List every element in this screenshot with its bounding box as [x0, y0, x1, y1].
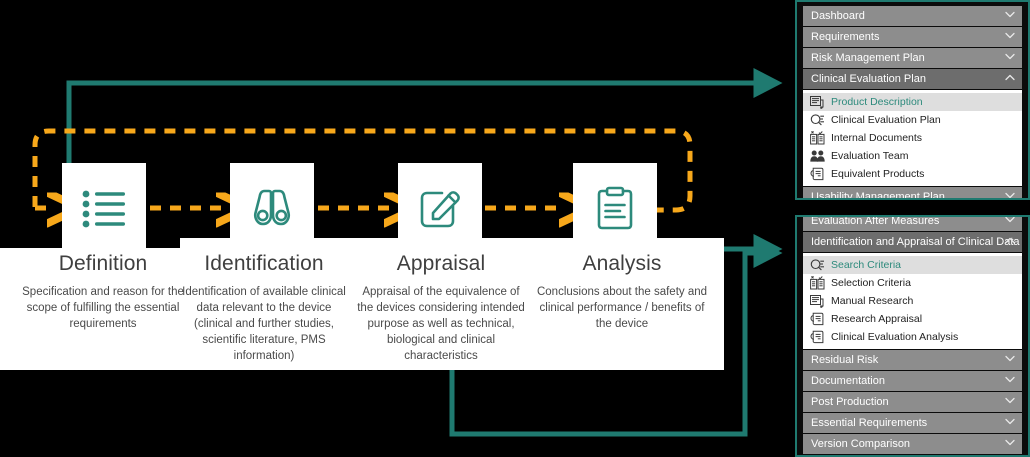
step-appraisal: Appraisal Appraisal of the equivalence o…: [353, 252, 529, 364]
tree-item-label: Equivalent Products: [831, 169, 924, 180]
tree-group-body: Search CriteriaSelection CriteriaManual …: [803, 253, 1022, 349]
tree-group-header[interactable]: Version Comparison: [803, 434, 1022, 454]
two-documents-icon: [809, 276, 825, 291]
tree-group-header[interactable]: Essential Requirements: [803, 413, 1022, 433]
step-description: Specification and reason for the scope o…: [8, 285, 198, 333]
tree-item[interactable]: Search Criteria: [803, 256, 1022, 274]
people-icon: [809, 149, 825, 164]
tree-group-header[interactable]: Evaluation After Measures: [803, 215, 1022, 231]
tree-item[interactable]: Selection Criteria: [803, 274, 1022, 292]
tree-item[interactable]: Internal Documents: [803, 129, 1022, 147]
chevron-down-icon[interactable]: [1005, 355, 1014, 364]
tree-item-label: Manual Research: [831, 296, 913, 307]
copy-document-icon: [809, 167, 825, 182]
step-description: Conclusions about the safety and clinica…: [530, 285, 714, 333]
tree-item-label: Internal Documents: [831, 133, 922, 144]
tree-item-label: Evaluation Team: [831, 151, 908, 162]
tree-group-header[interactable]: Identification and Appraisal of Clinical…: [803, 232, 1022, 252]
bullet-list-icon: [81, 188, 127, 228]
tree-item[interactable]: Clinical Evaluation Plan: [803, 111, 1022, 129]
search-doc-icon: [809, 113, 825, 128]
step-title: Analysis: [530, 252, 714, 275]
tree-group-label: Clinical Evaluation Plan: [811, 73, 926, 85]
tree-group-header[interactable]: Usability Management Plan: [803, 187, 1022, 200]
document-text-icon: [809, 294, 825, 309]
tree-group-label: Evaluation After Measures: [811, 215, 939, 227]
step-tile-definition: [62, 163, 146, 253]
chevron-down-icon[interactable]: [1005, 192, 1014, 200]
tree-item-label: Clinical Evaluation Analysis: [831, 332, 958, 343]
chevron-down-icon[interactable]: [1005, 32, 1014, 41]
tree-item[interactable]: Research Appraisal: [803, 310, 1022, 328]
tree-item-label: Search Criteria: [831, 260, 901, 271]
tree-item-label: Clinical Evaluation Plan: [831, 115, 941, 126]
clipboard-icon: [594, 185, 636, 231]
step-tile-appraisal: [398, 163, 482, 253]
copy-document-icon: [809, 312, 825, 327]
step-description: Identification of available clinical dat…: [178, 285, 350, 364]
tree-item-label: Product Description: [831, 97, 923, 108]
tree-item[interactable]: Equivalent Products: [803, 165, 1022, 183]
step-tile-analysis: [573, 163, 657, 253]
tree-group-label: Essential Requirements: [811, 417, 927, 429]
two-documents-icon: [809, 131, 825, 146]
step-title: Definition: [8, 252, 198, 275]
tree-group-body: Product DescriptionClinical Evaluation P…: [803, 90, 1022, 186]
tree-group-label: Post Production: [811, 396, 889, 408]
tree-group-header[interactable]: Clinical Evaluation Plan: [803, 69, 1022, 89]
tree-item-label: Research Appraisal: [831, 314, 922, 325]
step-title: Appraisal: [353, 252, 529, 275]
navigation-panel-bottom: Evaluation After MeasuresIdentification …: [795, 215, 1030, 457]
tree-group-header[interactable]: Residual Risk: [803, 350, 1022, 370]
chevron-up-icon[interactable]: [1005, 237, 1014, 246]
step-analysis: Analysis Conclusions about the safety an…: [530, 252, 714, 333]
search-doc-icon: [809, 258, 825, 273]
tree-group-header[interactable]: Risk Management Plan: [803, 48, 1022, 68]
chevron-down-icon[interactable]: [1005, 418, 1014, 427]
tree-item[interactable]: Manual Research: [803, 292, 1022, 310]
chevron-down-icon[interactable]: [1005, 53, 1014, 62]
navigation-panel-top: DashboardRequirementsRisk Management Pla…: [795, 0, 1030, 200]
copy-document-icon: [809, 330, 825, 345]
tree-group-label: Identification and Appraisal of Clinical…: [811, 236, 1020, 248]
chevron-down-icon[interactable]: [1005, 376, 1014, 385]
tree-group-label: Documentation: [811, 375, 885, 387]
tree-group-header[interactable]: Post Production: [803, 392, 1022, 412]
tree-group-label: Risk Management Plan: [811, 52, 925, 64]
chevron-down-icon[interactable]: [1005, 11, 1014, 20]
chevron-down-icon[interactable]: [1005, 439, 1014, 448]
tree-group-header[interactable]: Dashboard: [803, 6, 1022, 26]
step-identification: Identification Identification of availab…: [178, 252, 350, 364]
step-tile-identification: [230, 163, 314, 253]
tree-group-header[interactable]: Documentation: [803, 371, 1022, 391]
document-text-icon: [809, 95, 825, 110]
step-definition: Definition Specification and reason for …: [8, 252, 198, 333]
tree-group-label: Requirements: [811, 31, 879, 43]
pencil-square-icon: [417, 185, 463, 231]
tree-group-label: Residual Risk: [811, 354, 878, 366]
tree-item-label: Selection Criteria: [831, 278, 911, 289]
chevron-up-icon[interactable]: [1005, 74, 1014, 83]
clinical-evaluation-flow-diagram: Definition Specification and reason for …: [0, 0, 795, 457]
step-description: Appraisal of the equivalence of the devi…: [353, 285, 529, 364]
chevron-down-icon[interactable]: [1005, 216, 1014, 225]
binoculars-icon: [246, 187, 298, 229]
tree-item[interactable]: Evaluation Team: [803, 147, 1022, 165]
tree-item[interactable]: Product Description: [803, 93, 1022, 111]
step-title: Identification: [178, 252, 350, 275]
tree-group-header[interactable]: Requirements: [803, 27, 1022, 47]
tree-item[interactable]: Clinical Evaluation Analysis: [803, 328, 1022, 346]
chevron-down-icon[interactable]: [1005, 397, 1014, 406]
tree-group-label: Dashboard: [811, 10, 865, 22]
tree-group-label: Usability Management Plan: [811, 191, 945, 200]
tree-group-label: Version Comparison: [811, 438, 910, 450]
